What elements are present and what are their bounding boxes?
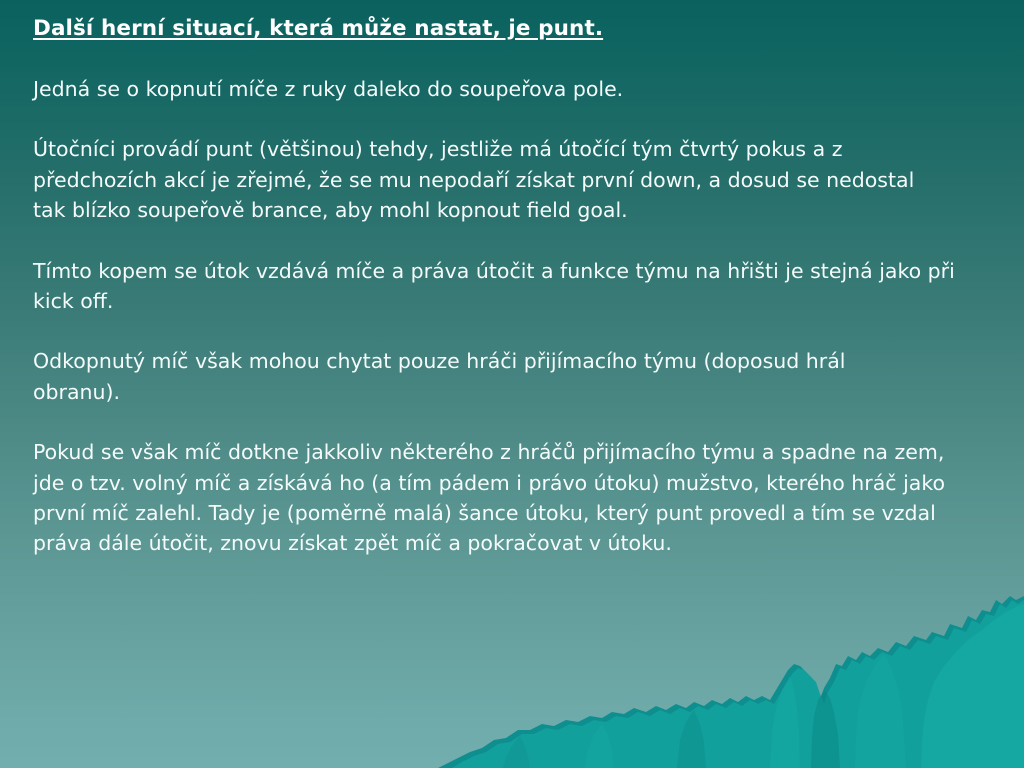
paragraph-spacer-1 (33, 104, 985, 134)
paragraph-receiving-team: Odkopnutý míč však mohou chytat pouze hr… (33, 346, 893, 407)
ridge-facet-highlight-b (855, 654, 906, 768)
paragraph-spacer-2 (33, 226, 985, 256)
paragraph-free-ball: Pokud se však míč dotkne jakkoliv někter… (33, 437, 978, 559)
paragraph-intro: Jedná se o kopnutí míče z ruky daleko do… (33, 74, 933, 104)
paragraph-kick-off-comparison: Tímto kopem se útok vzdává míče a práva … (33, 256, 983, 317)
ridge-facet-highlight-a (921, 604, 1024, 768)
slide-canvas: Další herní situací, která může nastat, … (0, 0, 1024, 768)
paragraph-when-punt: Útočníci provádí punt (většinou) tehdy, … (33, 134, 938, 225)
ridge-facet-shadow-c (503, 736, 530, 768)
paragraph-spacer-4 (33, 407, 985, 437)
ridge-shape-back (438, 596, 1024, 768)
slide-content: Další herní situací, která může nastat, … (33, 14, 985, 559)
paragraph-spacer-3 (33, 316, 985, 346)
ridge-facet-shadow-b (677, 710, 706, 768)
slide-title: Další herní situací, která může nastat, … (33, 14, 985, 44)
ridge-facet-highlight-d (585, 724, 614, 768)
title-gap-spacer (33, 44, 985, 74)
ridge-facet-shadow-a (811, 690, 840, 768)
ridge-shape-front (452, 600, 1024, 768)
ridge-facet-highlight-c (770, 676, 800, 768)
